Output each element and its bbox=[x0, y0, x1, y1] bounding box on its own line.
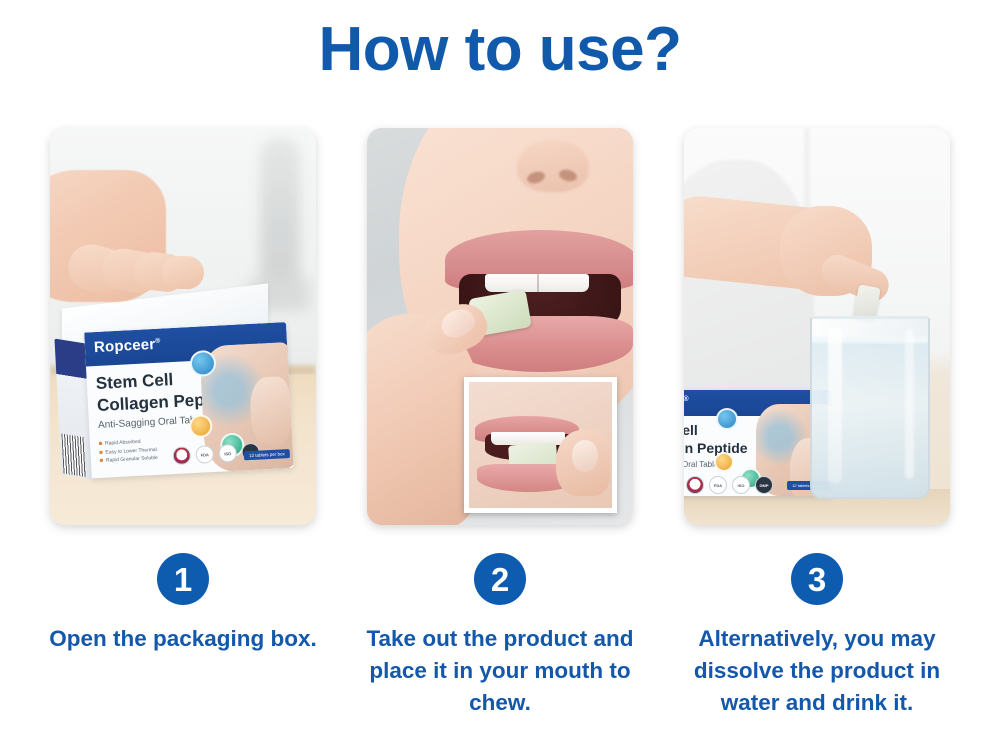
product-box-bullets: Rapid Absorbed Easy to Lower Thermal Rap… bbox=[99, 437, 158, 465]
product-box-model-face-highlight bbox=[249, 376, 293, 446]
step-1-number-badge: 1 bbox=[157, 553, 209, 605]
step-2-number-badge: 2 bbox=[474, 553, 526, 605]
page-title: How to use? bbox=[0, 16, 1000, 84]
usa-badge-icon: USA bbox=[172, 446, 191, 465]
fda-badge-icon: FDA bbox=[195, 445, 214, 464]
step-3-number-badge: 3 bbox=[791, 553, 843, 605]
product-box: Ropceer® Stem Cell Collagen Peptide Anti… bbox=[54, 322, 294, 484]
step-3-photo-card: Ropceer® Stem Cell Collagen Peptide Anti… bbox=[684, 128, 950, 525]
inset-chewing-closeup-photo bbox=[469, 382, 612, 508]
iso-badge-icon: ISO bbox=[732, 476, 750, 494]
steps-row: Ropceer® Stem Cell Collagen Peptide Anti… bbox=[50, 128, 950, 719]
product-box-front-panel: Ropceer® Stem Cell Collagen Peptide Anti… bbox=[84, 322, 293, 478]
certification-badges: USA FDA ISO GMP bbox=[686, 476, 773, 494]
glass-highlight-right bbox=[905, 329, 914, 479]
tablet-dropped-into-water-glass-photo: Ropceer® Stem Cell Collagen Peptide Anti… bbox=[684, 128, 950, 525]
finger-little bbox=[161, 255, 204, 289]
gmp-badge-icon: GMP bbox=[755, 476, 773, 494]
hand-opening-packaging-box-photo: Ropceer® Stem Cell Collagen Peptide Anti… bbox=[50, 128, 316, 525]
molecule-icon-orange bbox=[714, 452, 734, 472]
glass-highlight-left bbox=[828, 327, 842, 483]
product-box-title-line-1: Stem Cell bbox=[95, 370, 173, 394]
step-1: Ropceer® Stem Cell Collagen Peptide Anti… bbox=[50, 128, 316, 719]
usa-badge-icon: USA bbox=[686, 476, 704, 494]
how-to-use-infographic: How to use? bbox=[0, 0, 1000, 755]
barcode-icon bbox=[61, 434, 85, 477]
inset-fingernail bbox=[572, 440, 598, 472]
woman-chewing-tablet-photo bbox=[367, 128, 633, 525]
product-box-brand: Ropceer® bbox=[684, 395, 689, 409]
product-box-title-line-2: Collagen Peptide bbox=[684, 440, 748, 456]
step-2-caption: Take out the product and place it in you… bbox=[355, 623, 645, 719]
product-box-brand: Ropceer® bbox=[94, 336, 162, 356]
step-2-photo-card bbox=[367, 128, 633, 525]
product-box-title-line-1: Stem Cell bbox=[684, 422, 698, 438]
inset-closeup-frame bbox=[464, 377, 617, 513]
nose bbox=[517, 140, 589, 192]
water-glass bbox=[810, 316, 930, 499]
molecule-icon-blue bbox=[716, 408, 738, 430]
upper-teeth bbox=[485, 274, 589, 292]
step-1-photo-card: Ropceer® Stem Cell Collagen Peptide Anti… bbox=[50, 128, 316, 525]
step-1-caption: Open the packaging box. bbox=[38, 623, 328, 655]
step-3: Ropceer® Stem Cell Collagen Peptide Anti… bbox=[684, 128, 950, 719]
step-2: 2 Take out the product and place it in y… bbox=[367, 128, 633, 719]
step-3-caption: Alternatively, you may dissolve the prod… bbox=[672, 623, 962, 719]
fda-badge-icon: FDA bbox=[709, 476, 727, 494]
iso-badge-icon: ISO bbox=[218, 444, 237, 463]
